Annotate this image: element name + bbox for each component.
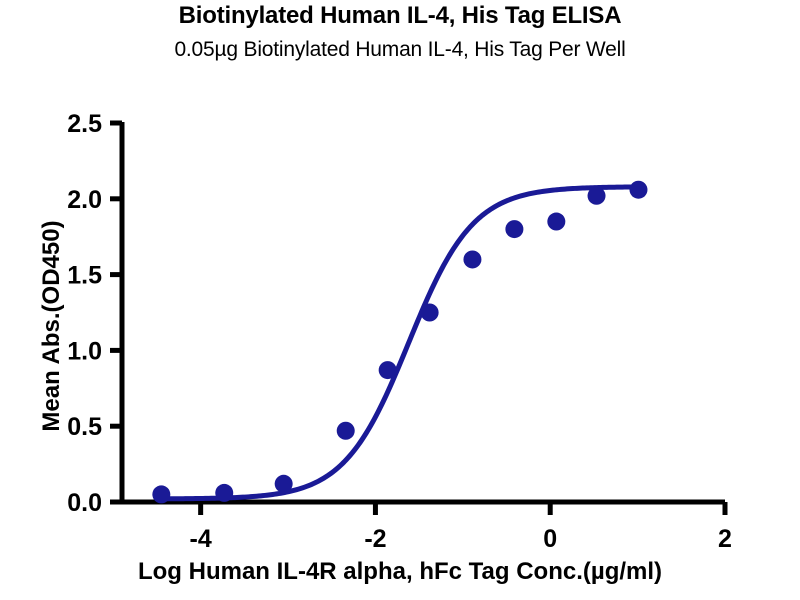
y-tick-label: 1.5 bbox=[67, 262, 102, 290]
x-axis-label: Log Human IL-4R alpha, hFc Tag Conc.(µg/… bbox=[0, 558, 800, 586]
y-tick-label: 2.5 bbox=[67, 110, 102, 138]
data-point bbox=[275, 475, 293, 493]
data-point bbox=[547, 213, 565, 231]
data-point bbox=[215, 484, 233, 502]
data-point bbox=[629, 181, 647, 199]
data-point bbox=[379, 361, 397, 379]
fit-curve bbox=[161, 187, 638, 499]
x-tick-label: 0 bbox=[543, 525, 557, 553]
data-point bbox=[421, 304, 439, 322]
x-tick-label: 2 bbox=[718, 525, 732, 553]
y-tick-label: 0.5 bbox=[67, 413, 102, 441]
data-point bbox=[588, 187, 606, 205]
chart-plot-area: 0.00.51.01.52.02.5-4-202 bbox=[0, 0, 800, 600]
data-point bbox=[337, 422, 355, 440]
x-tick-label: -4 bbox=[190, 525, 212, 553]
x-tick-label: -2 bbox=[364, 525, 386, 553]
chart-page: Biotinylated Human IL-4, His Tag ELISA 0… bbox=[0, 0, 800, 600]
data-point bbox=[152, 485, 170, 503]
y-axis-label: Mean Abs.(OD450) bbox=[38, 126, 66, 526]
y-tick-label: 0.0 bbox=[67, 489, 102, 517]
y-tick-label: 2.0 bbox=[67, 186, 102, 214]
y-tick-label: 1.0 bbox=[67, 337, 102, 365]
data-point bbox=[505, 220, 523, 238]
data-point bbox=[463, 250, 481, 268]
